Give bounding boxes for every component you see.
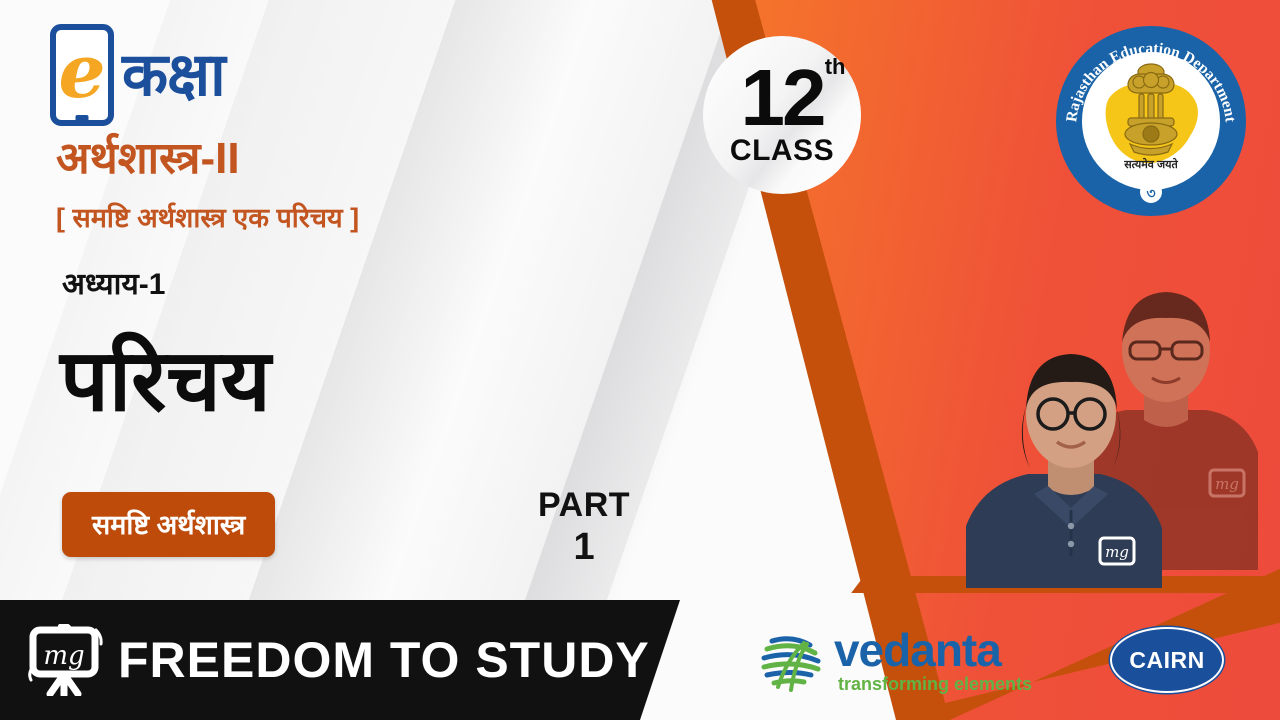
page-title: परिचय [60, 336, 271, 426]
class-ordinal: th [825, 58, 846, 77]
presenters-svg: mg [930, 238, 1280, 588]
sponsor-bar: vedanta transforming elements CAIRN [700, 600, 1280, 720]
chapter-label: अध्याय-1 [62, 268, 165, 301]
class-number-value: 12 [741, 53, 824, 142]
subject-title: अर्थशास्त्र-II [56, 136, 240, 182]
part-indicator: PART 1 [538, 488, 630, 566]
svg-text:mg: mg [1215, 475, 1239, 493]
emblem-bottom-mark: ৩ [1140, 181, 1162, 203]
svg-text:৩: ৩ [1146, 185, 1155, 201]
banner-tagline: FREEDOM TO STUDY [118, 631, 650, 689]
subject-subtitle: [ समष्टि अर्थशास्त्र एक परिचय ] [56, 204, 359, 234]
vedanta-globe-icon [758, 627, 824, 693]
smartphone-icon: e [50, 24, 114, 126]
vedanta-tagline: transforming elements [838, 675, 1032, 693]
cairn-logo: CAIRN [1112, 629, 1222, 691]
class-number: 12 th [741, 64, 824, 133]
logo-wordmark: कक्षा [122, 45, 225, 105]
bottom-banner: mg FREEDOM TO STUDY [0, 600, 700, 720]
part-number: 1 [538, 528, 630, 566]
part-label: PART [538, 488, 630, 522]
vedanta-logo: vedanta transforming elements [758, 627, 1032, 693]
rajasthan-education-department-emblem: सत्यमेव जयते Rajasthan Education Departm… [1046, 16, 1256, 226]
cairn-name: CAIRN [1129, 647, 1204, 674]
mg-chalkboard-icon: mg [26, 624, 104, 696]
vedanta-name: vedanta [834, 627, 1001, 673]
logo-letter-e: e [58, 44, 105, 102]
class-badge: 12 th CLASS [703, 36, 861, 194]
ekaksha-logo: e कक्षा [50, 24, 225, 126]
svg-text:mg: mg [1105, 543, 1129, 561]
mg-logo-text: mg [43, 641, 84, 671]
presenters-photo: mg [930, 238, 1280, 588]
topic-badge: समष्टि अर्थशास्त्र [62, 492, 275, 557]
emblem-svg: सत्यमेव जयते Rajasthan Education Departm… [1046, 16, 1256, 226]
slide-canvas: e कक्षा अर्थशास्त्र-II [ समष्टि अर्थशास्… [0, 0, 1280, 720]
emblem-motto: सत्यमेव जयते [1123, 157, 1178, 171]
